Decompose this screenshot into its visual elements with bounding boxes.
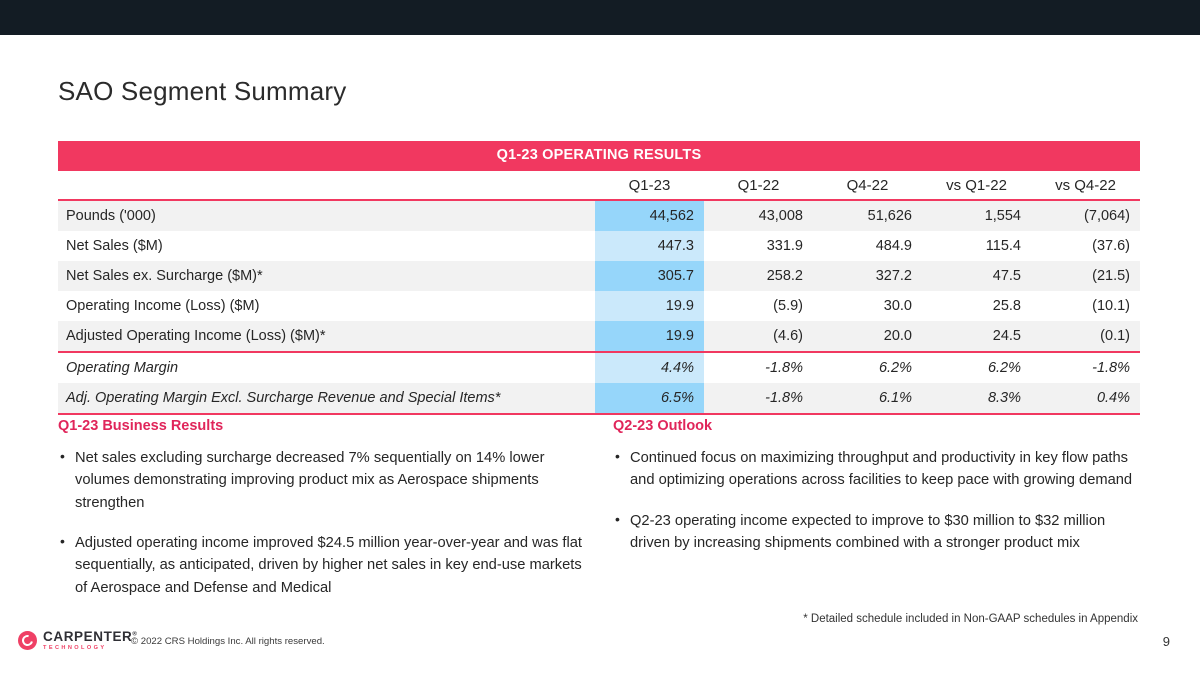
list-item: Continued focus on maximizing throughput… <box>613 447 1140 492</box>
table-row: Pounds ('000)44,56243,00851,6261,554(7,0… <box>58 200 1140 231</box>
row-value: -1.8% <box>704 383 813 414</box>
row-value: (4.6) <box>704 321 813 352</box>
row-value: 6.2% <box>922 352 1031 383</box>
logo-text: CARPENTER® TECHNOLOGY <box>43 630 137 651</box>
row-value-highlighted: 6.5% <box>595 383 704 414</box>
row-label: Adjusted Operating Income (Loss) ($M)* <box>58 321 595 352</box>
page-title: SAO Segment Summary <box>58 76 346 107</box>
row-value: 43,008 <box>704 200 813 231</box>
section-heading: Q1-23 Business Results <box>58 418 585 434</box>
table-row: Net Sales ($M)447.3331.9484.9115.4(37.6) <box>58 231 1140 261</box>
row-label: Operating Margin <box>58 352 595 383</box>
column-header-blank <box>58 171 595 200</box>
row-value: 6.1% <box>813 383 922 414</box>
row-label: Pounds ('000) <box>58 200 595 231</box>
row-label: Operating Income (Loss) ($M) <box>58 291 595 321</box>
row-value: 20.0 <box>813 321 922 352</box>
row-label: Adj. Operating Margin Excl. Surcharge Re… <box>58 383 595 414</box>
column-header-vs-q4-22: vs Q4-22 <box>1031 171 1140 200</box>
row-value: (5.9) <box>704 291 813 321</box>
row-value: 30.0 <box>813 291 922 321</box>
row-label: Net Sales ex. Surcharge ($M)* <box>58 261 595 291</box>
row-value: 0.4% <box>1031 383 1140 414</box>
footnote: * Detailed schedule included in Non-GAAP… <box>803 613 1138 625</box>
column-header-vs-q1-22: vs Q1-22 <box>922 171 1031 200</box>
row-value: 115.4 <box>922 231 1031 261</box>
row-value: (0.1) <box>1031 321 1140 352</box>
table-row: Adjusted Operating Income (Loss) ($M)*19… <box>58 321 1140 352</box>
row-value: 51,626 <box>813 200 922 231</box>
top-band <box>0 0 1200 35</box>
page-number: 9 <box>1163 634 1170 649</box>
bullet-list: Net sales excluding surcharge decreased … <box>58 447 585 599</box>
operating-results-table: Q1-23 OPERATING RESULTS Q1-23 Q1-22 Q4-2… <box>58 141 1140 415</box>
list-item: Q2-23 operating income expected to impro… <box>613 510 1140 555</box>
list-item: Net sales excluding surcharge decreased … <box>58 447 585 514</box>
commentary-columns: Q1-23 Business ResultsNet sales excludin… <box>58 418 1140 599</box>
row-value: 1,554 <box>922 200 1031 231</box>
row-value: 327.2 <box>813 261 922 291</box>
row-value: (10.1) <box>1031 291 1140 321</box>
row-value: -1.8% <box>704 352 813 383</box>
row-value: 258.2 <box>704 261 813 291</box>
section-heading: Q2-23 Outlook <box>613 418 1140 434</box>
row-value-highlighted: 19.9 <box>595 321 704 352</box>
table-body: Pounds ('000)44,56243,00851,6261,554(7,0… <box>58 200 1140 414</box>
table-row: Operating Margin4.4%-1.8%6.2%6.2%-1.8% <box>58 352 1140 383</box>
table-row: Operating Income (Loss) ($M)19.9(5.9)30.… <box>58 291 1140 321</box>
copyright-text: © 2022 CRS Holdings Inc. All rights rese… <box>131 636 325 647</box>
carpenter-circle-icon <box>18 631 37 650</box>
logo-word-label: CARPENTER <box>43 629 132 644</box>
logo-subtitle: TECHNOLOGY <box>43 646 137 652</box>
row-value: (21.5) <box>1031 261 1140 291</box>
row-value: 6.2% <box>813 352 922 383</box>
row-value: -1.8% <box>1031 352 1140 383</box>
column-header-q1-22: Q1-22 <box>704 171 813 200</box>
column-header-q1-23: Q1-23 <box>595 171 704 200</box>
row-value: (7,064) <box>1031 200 1140 231</box>
commentary-column: Q2-23 OutlookContinued focus on maximizi… <box>613 418 1140 599</box>
row-value-highlighted: 305.7 <box>595 261 704 291</box>
row-value-highlighted: 4.4% <box>595 352 704 383</box>
row-value: 484.9 <box>813 231 922 261</box>
row-value: 24.5 <box>922 321 1031 352</box>
table-row: Adj. Operating Margin Excl. Surcharge Re… <box>58 383 1140 414</box>
results-table: Q1-23 Q1-22 Q4-22 vs Q1-22 vs Q4-22 Poun… <box>58 171 1140 415</box>
row-value: 47.5 <box>922 261 1031 291</box>
commentary-column: Q1-23 Business ResultsNet sales excludin… <box>58 418 585 599</box>
table-banner: Q1-23 OPERATING RESULTS <box>58 141 1140 171</box>
bullet-list: Continued focus on maximizing throughput… <box>613 447 1140 554</box>
table-header-row: Q1-23 Q1-22 Q4-22 vs Q1-22 vs Q4-22 <box>58 171 1140 200</box>
row-value: 8.3% <box>922 383 1031 414</box>
row-value: 25.8 <box>922 291 1031 321</box>
table-row: Net Sales ex. Surcharge ($M)*305.7258.23… <box>58 261 1140 291</box>
logo-wordmark: CARPENTER® <box>43 630 137 644</box>
row-value: 331.9 <box>704 231 813 261</box>
row-label: Net Sales ($M) <box>58 231 595 261</box>
row-value-highlighted: 447.3 <box>595 231 704 261</box>
list-item: Adjusted operating income improved $24.5… <box>58 532 585 599</box>
row-value-highlighted: 44,562 <box>595 200 704 231</box>
row-value: (37.6) <box>1031 231 1140 261</box>
column-header-q4-22: Q4-22 <box>813 171 922 200</box>
carpenter-technology-logo: CARPENTER® TECHNOLOGY <box>18 630 137 651</box>
row-value-highlighted: 19.9 <box>595 291 704 321</box>
